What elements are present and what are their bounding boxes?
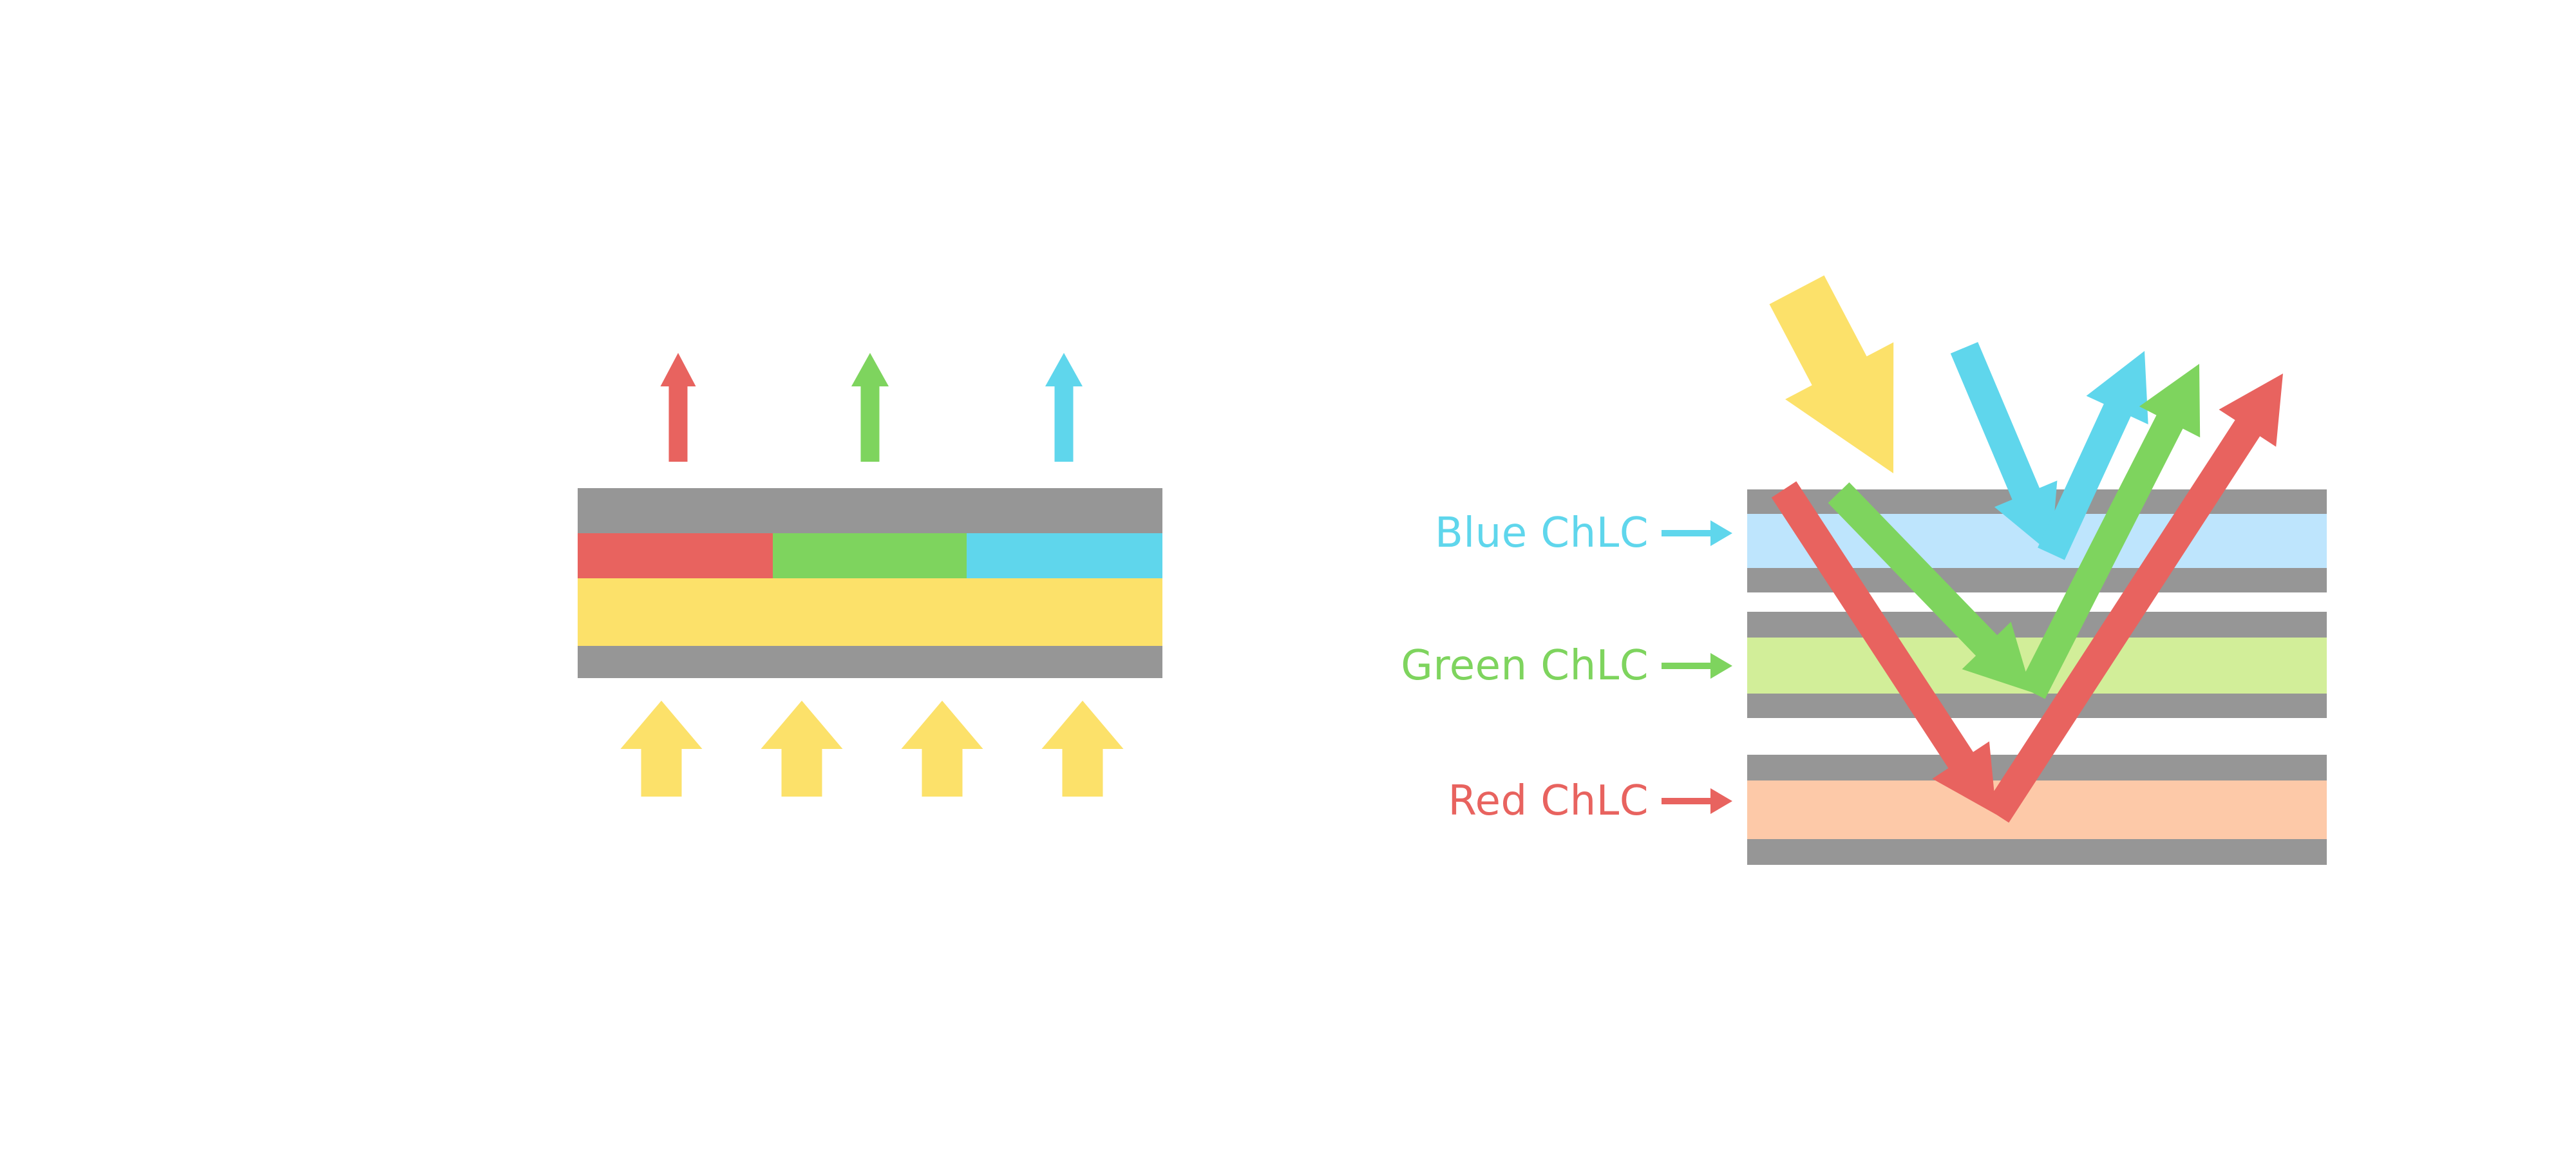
cyan-emitted-arrow xyxy=(1045,353,1083,462)
blue-chlc-cell-pointer-arrow-icon xyxy=(1662,520,1732,546)
backlight-arrow-4 xyxy=(1042,701,1124,797)
arrow-layer xyxy=(0,0,2576,1154)
backlight-arrow-1 xyxy=(621,701,703,797)
green-chlc-cell-pointer-arrow-icon xyxy=(1662,653,1732,679)
red-emitted-arrow xyxy=(661,353,696,462)
green-emitted-arrow xyxy=(851,353,889,462)
backlight-arrow-2 xyxy=(761,701,843,797)
backlight-arrow-3 xyxy=(902,701,983,797)
red-chlc-cell-pointer-arrow-icon xyxy=(1662,788,1732,814)
red-reflected-ray-out xyxy=(1984,374,2283,823)
cyan-reflected-ray-in xyxy=(1951,342,2058,554)
diagram-canvas: Blue ChLCGreen ChLCRed ChLC xyxy=(0,0,2576,1154)
white-light-incident-arrow xyxy=(1770,276,1894,473)
